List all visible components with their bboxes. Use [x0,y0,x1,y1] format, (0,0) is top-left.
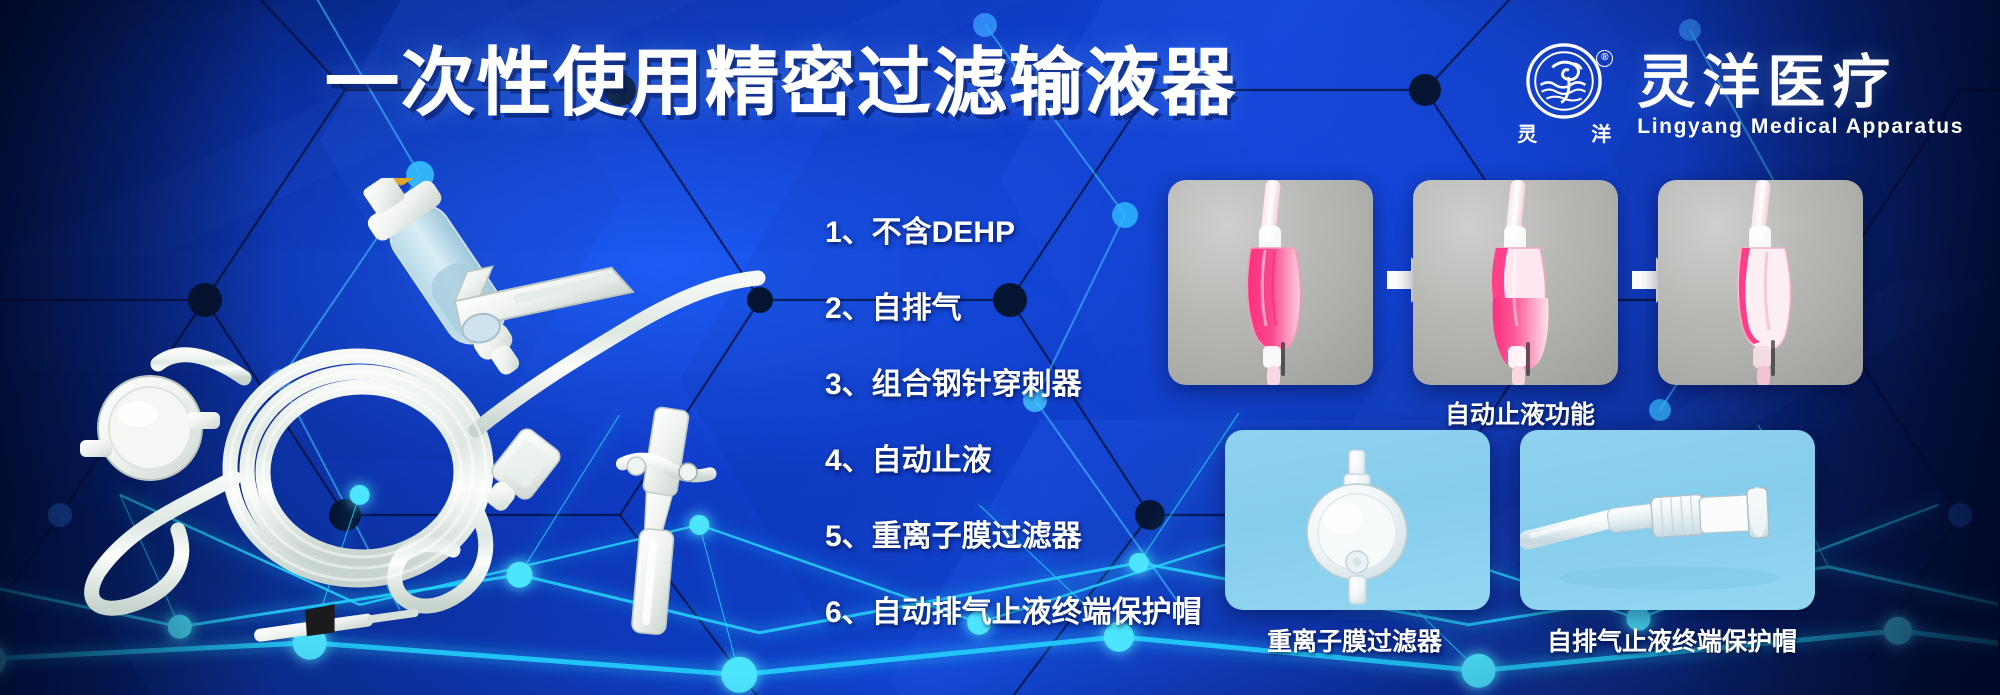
feature-item-1: 1、不含DEHP [825,218,1202,248]
feature-item-5: 5、重离子膜过滤器 [825,522,1202,552]
bottom-caption-2: 自排气止液终端保护帽 [1547,622,1797,658]
auto-stop-stage-1-photo [1168,180,1373,385]
feature-item-3: 3、组合钢针穿刺器 [825,370,1202,400]
feature-item-2: 2、自排气 [825,294,1202,324]
protective-cap-graphic [1520,430,1815,610]
main-product-photo [58,178,818,658]
luer-connector-part [251,593,419,644]
drip-chamber-stage-1-graphic [1211,180,1331,385]
wave-fish-emblem-icon [1525,42,1603,120]
brand-text: 灵洋医疗 Lingyang Medical Apparatus [1637,54,1964,137]
logo-emblem: ® 灵 洋 [1517,42,1615,148]
brand-name-cn: 灵洋医疗 [1637,54,1964,112]
drip-chamber-stage-2-graphic [1456,180,1576,385]
auto-stop-stage-2-photo [1413,180,1618,385]
page-title: 一次性使用精密过滤输液器 [325,46,1237,120]
product-banner: 一次性使用精密过滤输液器 ® 灵 洋 灵洋医疗 Lingyang Medical… [0,0,2000,695]
feature-item-4: 4、自动止液 [825,446,1202,476]
membrane-filter-graphic [1225,430,1490,610]
emblem-subtext: 灵 洋 [1517,118,1611,147]
emblem-char-right: 洋 [1591,118,1611,147]
filter-housing-part [80,376,220,480]
heavy-ion-membrane-filter-photo [1225,430,1490,610]
terminal-protective-cap-photo [1520,430,1815,610]
roller-clamp-part [450,239,637,346]
emblem-char-left: 灵 [1517,118,1537,147]
feature-item-6: 6、自动排气止液终端保护帽 [825,598,1202,628]
drip-chamber-stage-3-graphic [1701,180,1821,385]
registered-trademark-icon: ® [1596,50,1613,67]
top-group-caption: 自动止液功能 [1445,395,1595,431]
infusion-set-illustration [58,178,818,658]
needle-cap-part [631,528,674,635]
bottom-caption-1: 重离子膜过滤器 [1267,622,1442,658]
brand-logo: ® 灵 洋 灵洋医疗 Lingyang Medical Apparatus [1517,42,1964,148]
brand-name-en: Lingyang Medical Apparatus [1637,116,1964,137]
auto-stop-stage-3-photo [1658,180,1863,385]
feature-list: 1、不含DEHP 2、自排气 3、组合钢针穿刺器 4、自动止液 5、重离子膜过滤… [825,218,1202,628]
